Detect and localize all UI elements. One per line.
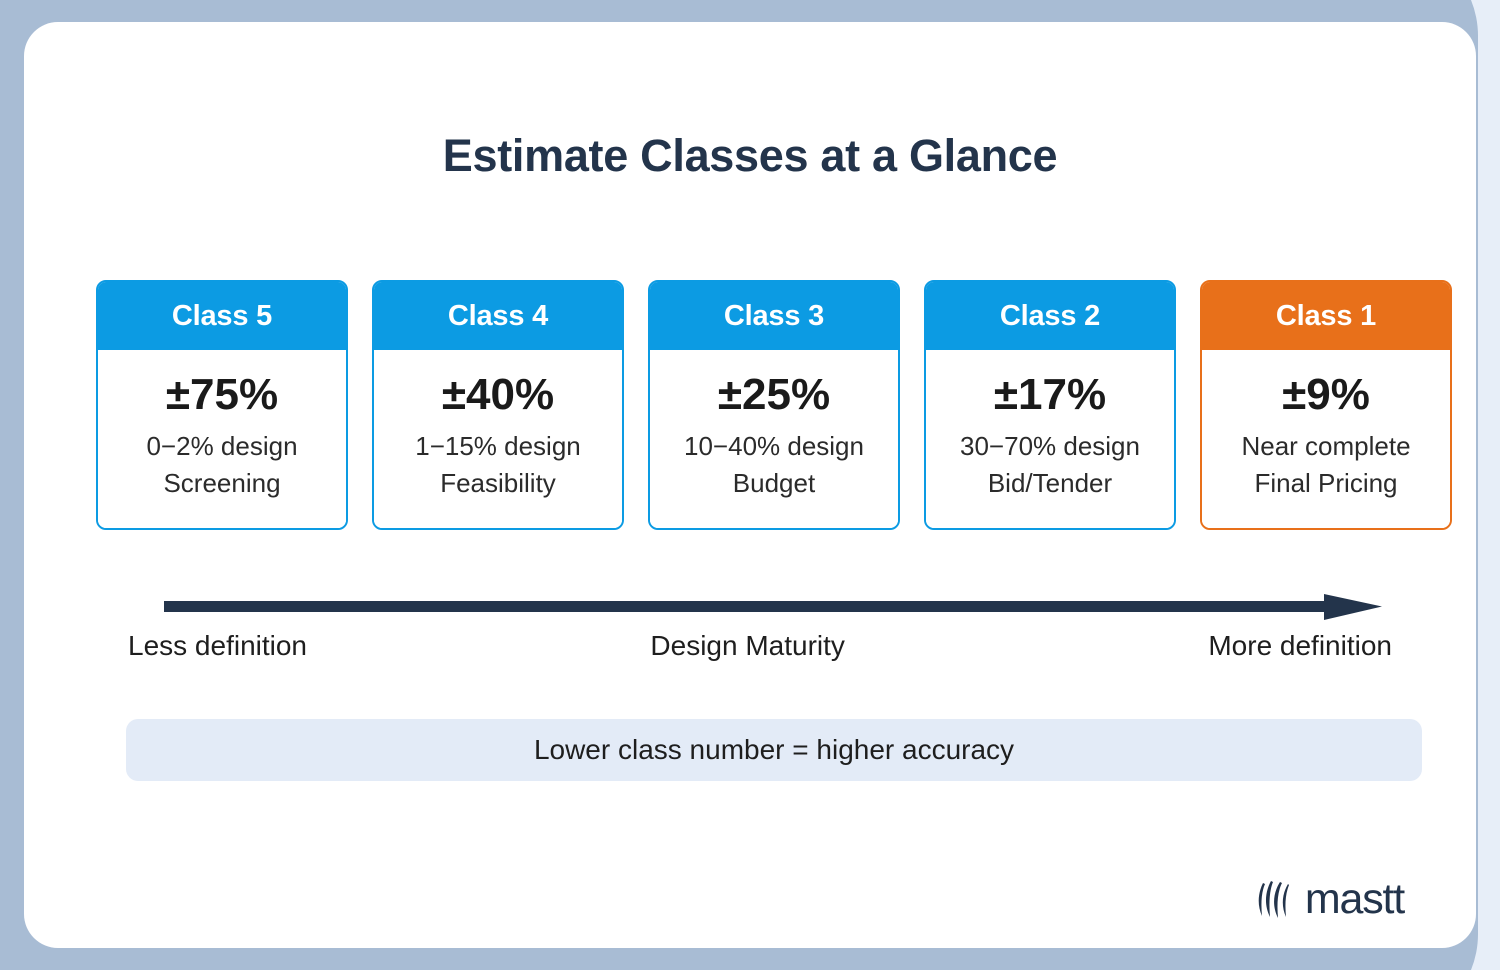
class-card[interactable]: Class 5 ±75% 0−2% design Screening xyxy=(96,280,348,530)
class-accuracy: ±9% xyxy=(1282,372,1370,418)
right-arrow-icon xyxy=(164,594,1382,620)
summary-note-text: Lower class number = higher accuracy xyxy=(534,734,1014,766)
summary-note-banner: Lower class number = higher accuracy xyxy=(126,719,1422,781)
class-stage: Bid/Tender xyxy=(988,465,1112,502)
class-card-header: Class 4 xyxy=(374,282,622,350)
class-stage: Screening xyxy=(163,465,280,502)
mastt-flame-logo-icon xyxy=(1256,879,1296,921)
class-card-header: Class 2 xyxy=(926,282,1174,350)
brand-logo: mastt xyxy=(1256,878,1404,921)
class-accuracy: ±75% xyxy=(166,372,278,418)
class-card-header: Class 5 xyxy=(98,282,346,350)
estimate-class-cards: Class 5 ±75% 0−2% design Screening Class… xyxy=(96,280,1452,530)
axis-label-row: Less definition Design Maturity More def… xyxy=(128,630,1420,662)
class-design-range: Near complete xyxy=(1241,428,1410,465)
class-design-range: 10−40% design xyxy=(684,428,864,465)
class-design-range: 0−2% design xyxy=(146,428,297,465)
class-card[interactable]: Class 3 ±25% 10−40% design Budget xyxy=(648,280,900,530)
class-card-header: Class 1 xyxy=(1202,282,1450,350)
class-card-header: Class 3 xyxy=(650,282,898,350)
class-card-body: ±17% 30−70% design Bid/Tender xyxy=(926,350,1174,528)
axis-label-middle: Design Maturity xyxy=(650,630,845,662)
axis-label-left: Less definition xyxy=(128,630,307,662)
class-accuracy: ±25% xyxy=(718,372,830,418)
design-maturity-arrow xyxy=(164,594,1382,620)
class-card-body: ±40% 1−15% design Feasibility xyxy=(374,350,622,528)
class-design-range: 1−15% design xyxy=(415,428,581,465)
class-card-body: ±25% 10−40% design Budget xyxy=(650,350,898,528)
class-stage: Feasibility xyxy=(440,465,556,502)
class-card[interactable]: Class 2 ±17% 30−70% design Bid/Tender xyxy=(924,280,1176,530)
class-stage: Budget xyxy=(733,465,815,502)
class-accuracy: ±40% xyxy=(442,372,554,418)
axis-label-right: More definition xyxy=(1208,630,1392,662)
class-design-range: 30−70% design xyxy=(960,428,1140,465)
infographic-canvas: Estimate Classes at a Glance Class 5 ±75… xyxy=(0,0,1500,970)
brand-name: mastt xyxy=(1305,878,1404,921)
class-stage: Final Pricing xyxy=(1254,465,1397,502)
class-card[interactable]: Class 4 ±40% 1−15% design Feasibility xyxy=(372,280,624,530)
class-card[interactable]: Class 1 ±9% Near complete Final Pricing xyxy=(1200,280,1452,530)
class-card-body: ±9% Near complete Final Pricing xyxy=(1202,350,1450,528)
page-title: Estimate Classes at a Glance xyxy=(24,130,1476,182)
infographic-card: Estimate Classes at a Glance Class 5 ±75… xyxy=(24,22,1476,948)
class-accuracy: ±17% xyxy=(994,372,1106,418)
class-card-body: ±75% 0−2% design Screening xyxy=(98,350,346,528)
